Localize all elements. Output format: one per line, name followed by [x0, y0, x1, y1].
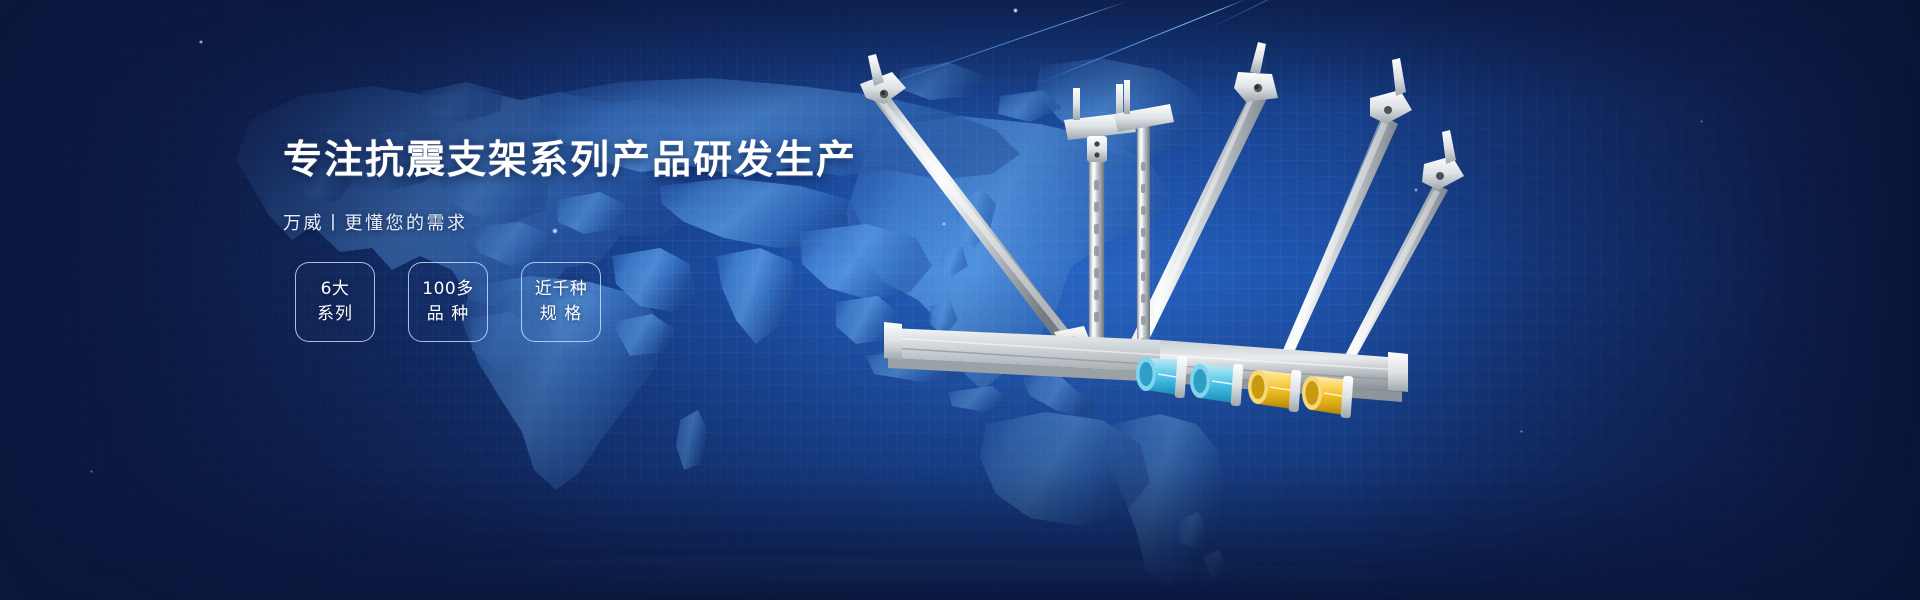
banner-headline: 专注抗震支架系列产品研发生产: [283, 140, 923, 182]
pipe-cyan-1: [1136, 356, 1187, 399]
brace-diagonal-far-right-a: [1270, 58, 1412, 380]
badge-specs[interactable]: 近千种 规 格: [521, 262, 601, 342]
pipe-gold-1: [1248, 370, 1301, 413]
product-image-seismic-brace: [840, 40, 1400, 440]
badge-varieties-line2: 品 种: [427, 302, 469, 328]
badge-series[interactable]: 6大 系列: [295, 262, 375, 342]
sparkle-dot: [90, 470, 93, 473]
badge-specs-line2: 规 格: [540, 302, 582, 328]
badge-series-line1: 6大: [321, 277, 350, 303]
sparkle-dot: [1013, 8, 1018, 13]
sparkle-dot: [199, 40, 203, 44]
pipe-cyan-2: [1190, 364, 1243, 407]
beam-end-bracket-right: [1388, 352, 1408, 392]
feature-badges: 6大 系列 100多 品 种 近千种 规 格: [295, 262, 601, 342]
beam-end-bracket-left: [884, 322, 902, 360]
sparkle-dot: [1414, 188, 1418, 192]
mast-vertical-right: [1114, 80, 1174, 374]
banner-subline: 万威丨更懂您的需求: [283, 209, 923, 235]
badge-series-line2: 系列: [317, 302, 353, 328]
banner-copy: 专注抗震支架系列产品研发生产 万威丨更懂您的需求: [283, 140, 923, 235]
badge-varieties[interactable]: 100多 品 种: [408, 262, 488, 342]
pipe-gold-2: [1302, 376, 1353, 419]
sparkle-dot: [1520, 430, 1523, 433]
hero-banner: 专注抗震支架系列产品研发生产 万威丨更懂您的需求 6大 系列 100多 品 种 …: [0, 0, 1920, 600]
badge-varieties-line1: 100多: [422, 277, 473, 303]
badge-specs-line1: 近千种: [535, 277, 588, 303]
sparkle-dot: [1700, 120, 1703, 123]
